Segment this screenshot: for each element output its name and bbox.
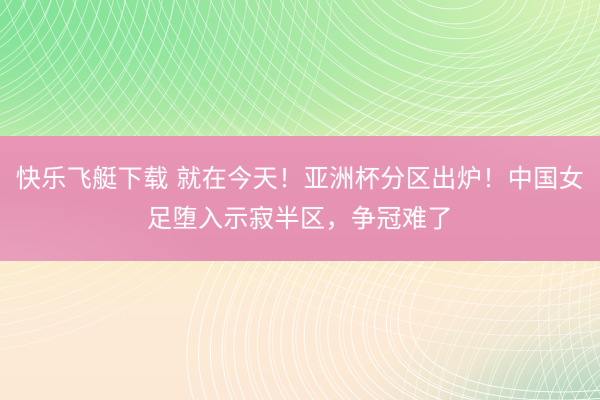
headline-text: 快乐飞艇下载 就在今天！亚洲杯分区出炉！中国女足堕入示寂半区，争冠难了: [14, 159, 586, 239]
promo-image-canvas: 快乐飞艇下载 就在今天！亚洲杯分区出炉！中国女足堕入示寂半区，争冠难了: [0, 0, 600, 400]
headline-banner: 快乐飞艇下载 就在今天！亚洲杯分区出炉！中国女足堕入示寂半区，争冠难了: [0, 136, 600, 261]
